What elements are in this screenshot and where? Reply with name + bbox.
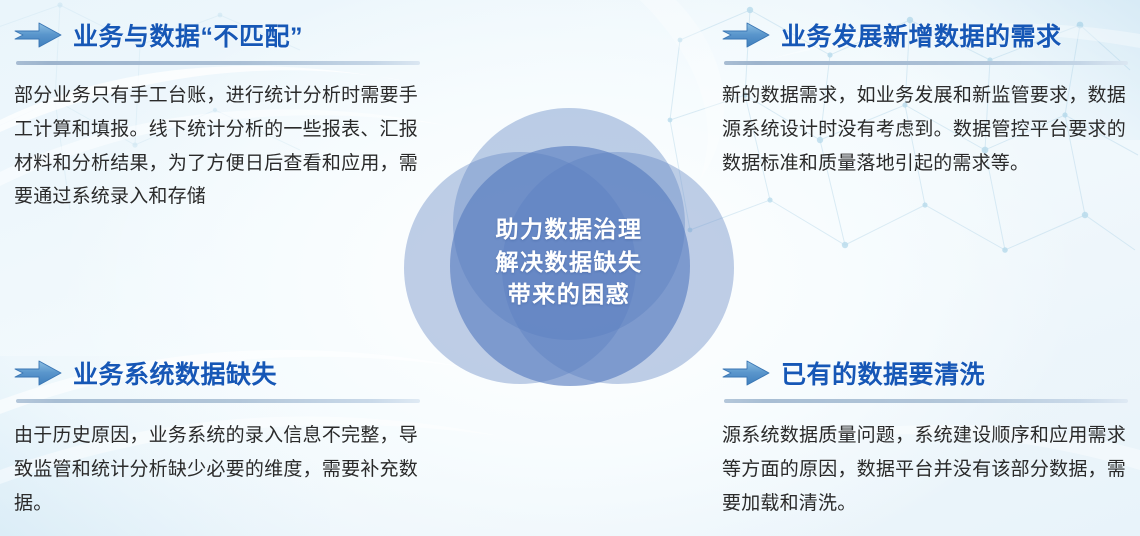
center-line-2: 解决数据缺失 [496, 246, 643, 279]
quadrant-top-left-body: 部分业务只有手工台账，进行统计分析时需要手工计算和填报。线下统计分析的一些报表、… [14, 79, 418, 214]
venn-circle-core [450, 146, 690, 386]
arrow-right-icon [14, 20, 62, 50]
quadrant-bottom-right-header: 已有的数据要清洗 [722, 352, 1140, 394]
quadrant-bottom-right-divider [724, 399, 1128, 403]
quadrant-top-left: 业务与数据“不匹配” 部分业务只有手工台账，进行统计分析时需要手工计算和填报。线… [14, 14, 434, 214]
center-line-1: 助力数据治理 [496, 213, 643, 246]
venn-circle-left [404, 152, 636, 384]
quadrant-bottom-left-divider [16, 399, 420, 403]
quadrant-bottom-left-heading: 业务系统数据缺失 [73, 355, 277, 391]
center-line-3: 带来的困惑 [508, 278, 631, 311]
quadrant-bottom-right-heading: 已有的数据要清洗 [781, 355, 985, 391]
quadrant-top-right-header: 业务发展新增数据的需求 [722, 14, 1140, 56]
quadrant-bottom-right: 已有的数据要清洗 源系统数据质量问题，系统建设顺序和应用需求等方面的原因，数据平… [722, 352, 1140, 520]
quadrant-bottom-left: 业务系统数据缺失 由于历史原因，业务系统的录入信息不完整，导致监管和统计分析缺少… [14, 352, 434, 520]
quadrant-bottom-left-body: 由于历史原因，业务系统的录入信息不完整，导致监管和统计分析缺少必要的维度，需要补… [14, 419, 418, 520]
quadrant-top-left-header: 业务与数据“不匹配” [14, 14, 434, 56]
quadrant-top-right-divider [724, 61, 1128, 65]
quadrant-top-right: 业务发展新增数据的需求 新的数据需求，如业务发展和新监管要求，数据源系统设计时没… [722, 14, 1140, 180]
center-venn-graphic: 助力数据治理 解决数据缺失 带来的困惑 [404, 108, 734, 400]
quadrant-top-right-heading: 业务发展新增数据的需求 [781, 17, 1062, 53]
quadrant-bottom-left-header: 业务系统数据缺失 [14, 352, 434, 394]
quadrant-top-left-heading: 业务与数据“不匹配” [73, 17, 303, 53]
quadrant-top-right-body: 新的数据需求，如业务发展和新监管要求，数据源系统设计时没有考虑到。数据管控平台要… [722, 79, 1126, 180]
center-statement: 助力数据治理 解决数据缺失 带来的困惑 [404, 108, 734, 400]
quadrant-bottom-right-body: 源系统数据质量问题，系统建设顺序和应用需求等方面的原因，数据平台并没有该部分数据… [722, 419, 1126, 520]
quadrant-top-left-divider [16, 61, 420, 65]
arrow-right-icon [722, 20, 770, 50]
slide-canvas: 助力数据治理 解决数据缺失 带来的困惑 业务与数据“不匹配” 部分业务只有手工台… [0, 0, 1140, 536]
venn-circle-top [453, 108, 685, 340]
arrow-right-icon [722, 358, 770, 388]
arrow-right-icon [14, 358, 62, 388]
venn-circle-right [502, 152, 734, 384]
